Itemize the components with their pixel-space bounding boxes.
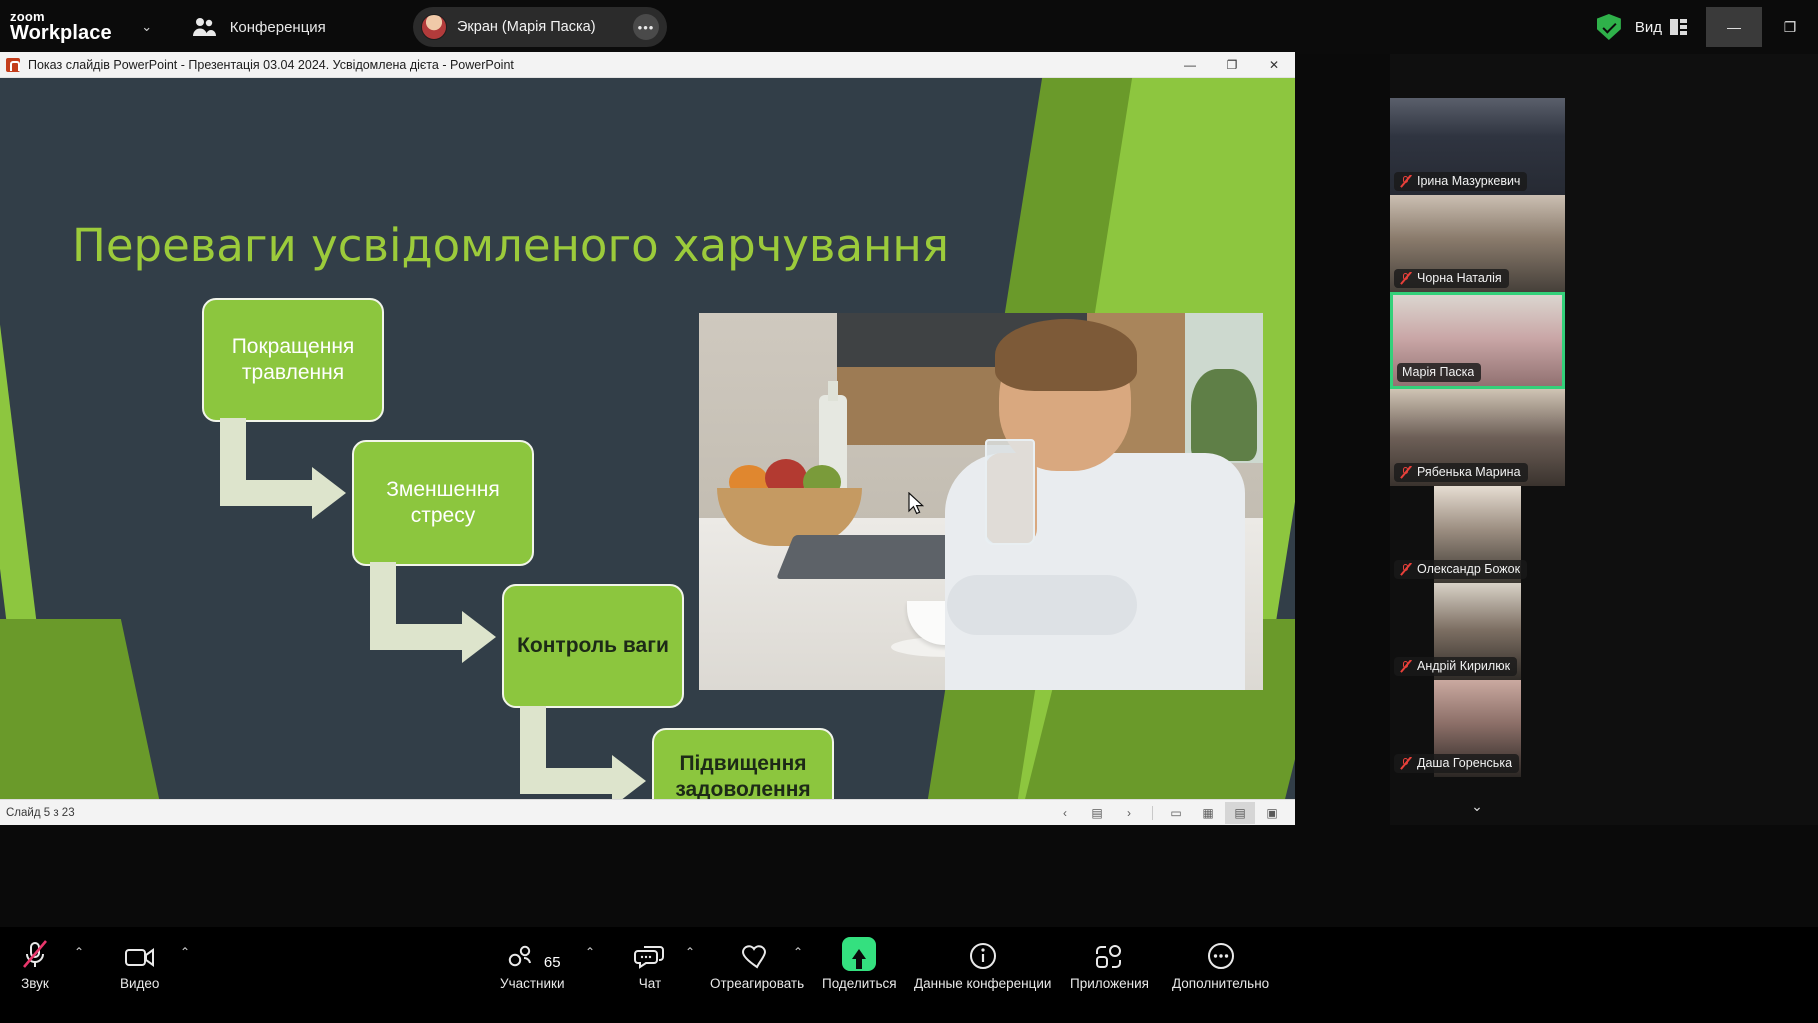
participant-tile-2-active-speaker[interactable]: Марія Паска [1390,292,1565,389]
video-label: Видео [120,976,159,991]
gallery-scroll-down-icon[interactable]: ⌄ [1464,793,1490,819]
powerpoint-shared-window: Показ слайдів PowerPoint - Презентація 0… [0,52,1295,825]
reading-view-button[interactable]: ▤ [1225,802,1255,824]
next-slide-button[interactable]: › [1114,802,1144,824]
ppt-minimize-button[interactable]: — [1169,52,1211,78]
normal-view-button[interactable]: ▭ [1161,802,1191,824]
mic-muted-icon [1399,563,1412,576]
more-button[interactable]: Дополнительно [1172,937,1269,991]
participant-name-badge-0: Ірина Мазуркевич [1394,172,1527,191]
participants-count: 65 [544,954,561,971]
more-horizontal-icon [1206,937,1236,971]
flow-box-1: Покращення травлення [202,298,384,422]
share-screen-icon [842,937,876,971]
participant-name-0: Ірина Мазуркевич [1417,174,1520,188]
participant-tile-5[interactable]: Андрій Кирилюк [1390,583,1565,680]
meeting-tab[interactable]: Конференция [192,16,326,38]
participant-name-4: Олександр Божок [1417,562,1520,576]
participant-name-badge-3: Рябенька Марина [1394,463,1528,482]
zoom-logo: zoom Workplace [10,10,112,45]
meeting-info-button[interactable]: Данные конференции [914,937,1051,991]
top-bar-right-controls: Вид — ❐ [1597,0,1818,54]
participant-name-badge-2: Марія Паска [1397,363,1481,382]
share-screen-button[interactable]: Поделиться [822,937,897,991]
meeting-tab-label: Конференция [230,19,326,36]
audio-button[interactable]: Звук [20,937,50,991]
powerpoint-title-bar: Показ слайдів PowerPoint - Презентація 0… [0,52,1295,78]
window-restore-button[interactable]: ❐ [1762,7,1818,47]
zoom-meeting-window: zoom Workplace ⌄ Конференция Экран (Марі… [0,0,1818,1023]
audio-label: Звук [21,976,49,991]
slide-sorter-button[interactable]: ▦ [1193,802,1223,824]
participant-name-6: Даша Горенська [1417,756,1512,770]
apps-label: Приложения [1070,976,1149,991]
participant-gallery[interactable]: Ірина Мазуркевич Чорна Наталія Марія Пас… [1390,54,1818,825]
powerpoint-view-controls: ‹ ▤ › ▭ ▦ ▤ ▣ [1050,802,1287,824]
slide-title: Переваги усвідомленого харчування [72,219,949,272]
notes-button[interactable]: ▤ [1082,802,1112,824]
flow-box-2: Зменшення стресу [352,440,534,566]
participant-name-3: Рябенька Марина [1417,465,1521,479]
flow-arrow-2 [370,562,520,672]
zoom-logo-line1: zoom [10,10,112,24]
video-button[interactable]: Видео [120,937,159,991]
people-icon [192,16,218,38]
zoom-top-bar: zoom Workplace ⌄ Конференция Экран (Марі… [0,0,1818,54]
participant-tile-1[interactable]: Чорна Наталія [1390,195,1565,292]
reactions-options-caret[interactable]: ⌃ [793,945,803,959]
slide-photo-man-drinking-water [699,313,1263,690]
slide-number-label: Слайд 5 з 23 [6,807,75,819]
mic-muted-icon [1399,272,1412,285]
info-icon [968,937,998,971]
powerpoint-icon [6,58,20,72]
participant-tile-0[interactable]: Ірина Мазуркевич [1390,98,1565,195]
meeting-toolbar: Звук ⌃ Видео ⌃ 65 Участники [0,927,1818,1023]
chat-options-caret[interactable]: ⌃ [685,945,695,959]
share-label: Поделиться [822,976,897,991]
mic-muted-icon [1399,660,1412,673]
slide-decor-shape-d [0,619,159,799]
participants-icon: 65 [504,937,561,971]
previous-slide-button[interactable]: ‹ [1050,802,1080,824]
chat-label: Чат [639,976,661,991]
flow-box-3: Контроль ваги [502,584,684,708]
participant-name-badge-6: Даша Горенська [1394,754,1519,773]
participants-label: Участники [500,976,565,991]
powerpoint-title: Показ слайдів PowerPoint - Презентація 0… [28,58,514,72]
participant-tile-6[interactable]: Даша Горенська [1390,680,1565,777]
participant-tile-3[interactable]: Рябенька Марина [1390,389,1565,486]
mic-muted-icon [1399,175,1412,188]
mic-muted-icon [1399,466,1412,479]
workspace-dropdown-icon[interactable]: ⌄ [134,14,160,40]
participants-options-caret[interactable]: ⌃ [585,945,595,959]
flow-arrow-3 [520,706,670,799]
screen-share-label: Экран (Марія Паска) [457,19,623,35]
reactions-button[interactable]: Отреагировать [710,937,804,991]
encryption-shield-icon[interactable] [1597,14,1621,40]
participants-button[interactable]: 65 Участники [500,937,565,991]
participant-name-2: Марія Паска [1402,365,1474,379]
video-camera-icon [123,937,157,971]
mic-muted-icon [20,937,50,971]
participant-name-badge-1: Чорна Наталія [1394,269,1509,288]
meeting-info-label: Данные конференции [914,976,1051,991]
video-options-caret[interactable]: ⌃ [180,945,190,959]
mic-muted-icon [1399,757,1412,770]
powerpoint-window-buttons: — ❐ ✕ [1169,52,1295,78]
chat-bubble-icon [634,937,666,971]
participant-name-5: Андрій Кирилюк [1417,659,1510,673]
layout-grid-icon[interactable] [1670,19,1688,35]
participant-name-1: Чорна Наталія [1417,271,1502,285]
heart-icon [740,937,774,971]
ppt-restore-button[interactable]: ❐ [1211,52,1253,78]
participant-tile-4[interactable]: Олександр Божок [1390,486,1565,583]
audio-options-caret[interactable]: ⌃ [74,945,84,959]
zoom-logo-line2: Workplace [10,23,112,44]
window-minimize-button[interactable]: — [1706,7,1762,47]
participant-name-badge-5: Андрій Кирилюк [1394,657,1517,676]
more-options-icon[interactable]: ••• [633,14,659,40]
chat-button[interactable]: Чат [634,937,666,991]
participant-name-badge-4: Олександр Божок [1394,560,1527,579]
powerpoint-status-bar: Слайд 5 з 23 ‹ ▤ › ▭ ▦ ▤ ▣ [0,799,1295,825]
slideshow-button[interactable]: ▣ [1257,802,1287,824]
flow-arrow-1 [220,418,370,528]
flow-box-4: Підвищення задоволення від їжі [652,728,834,799]
apps-icon [1093,937,1125,971]
view-button-label[interactable]: Вид [1635,19,1662,36]
apps-button[interactable]: Приложения [1070,937,1149,991]
avatar [421,14,447,40]
reactions-label: Отреагировать [710,976,804,991]
more-label: Дополнительно [1172,976,1269,991]
screen-share-indicator[interactable]: Экран (Марія Паска) ••• [413,7,667,47]
slide-canvas: Переваги усвідомленого харчування Покращ… [0,78,1295,799]
ppt-close-button[interactable]: ✕ [1253,52,1295,78]
